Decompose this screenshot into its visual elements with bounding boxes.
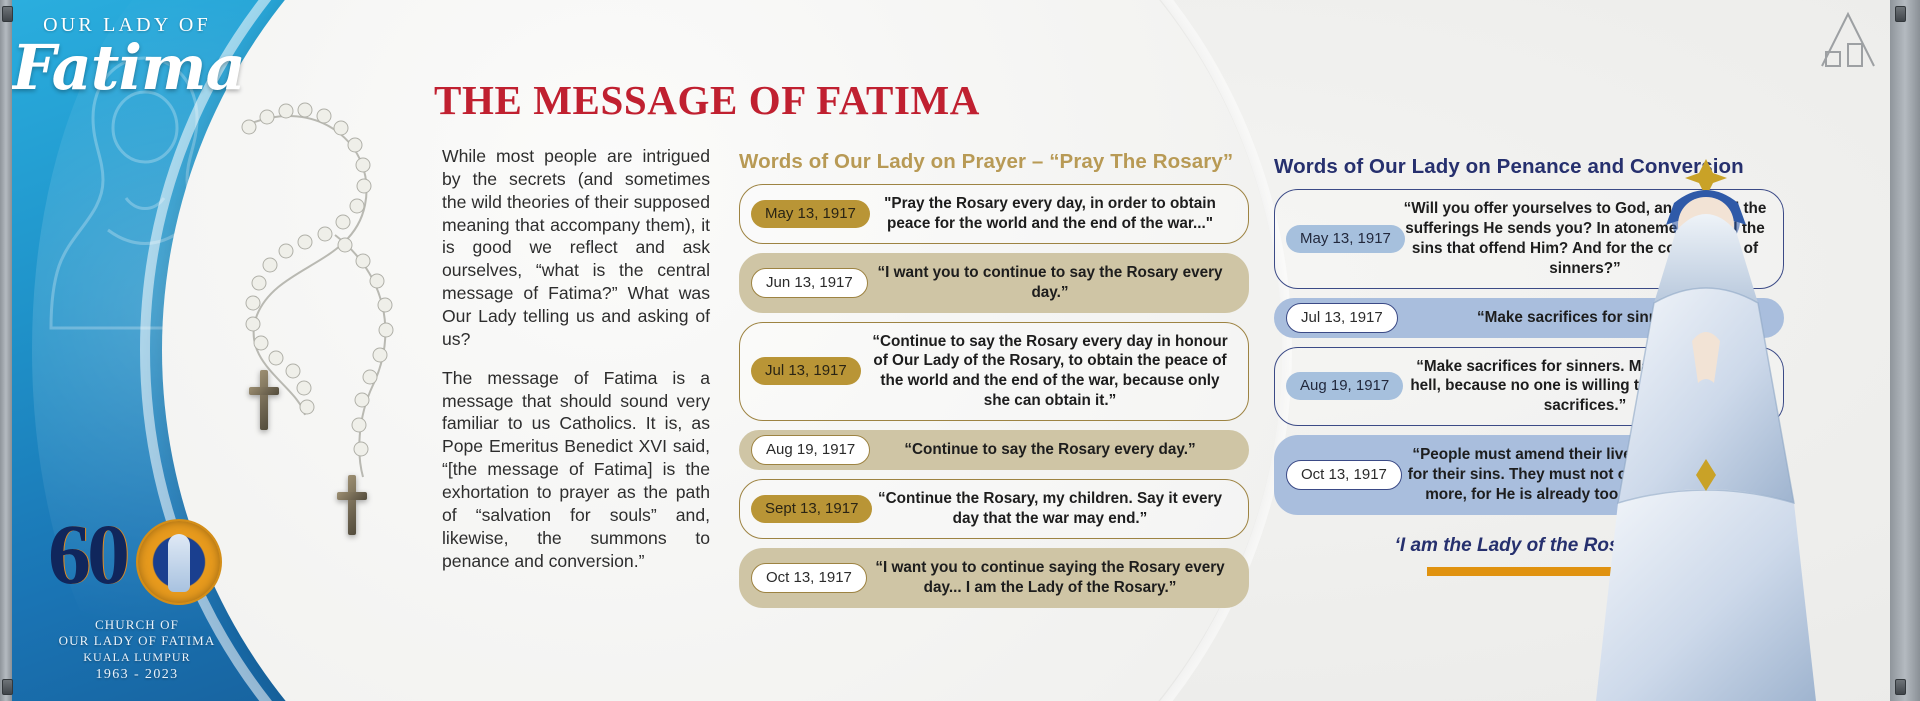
intro-paragraph-2: The message of Fatima is a message that … — [442, 367, 710, 573]
mount-bolt-bottom-left — [2, 679, 13, 695]
message-quote: “Continue to say the Rosary every day.” — [868, 440, 1232, 460]
rosary-crucifix-primary — [247, 370, 281, 430]
message-date-badge: Jun 13, 1917 — [751, 268, 868, 298]
intro-paragraph-1: While most people are intrigued by the s… — [442, 145, 710, 351]
panel-left-edge — [0, 0, 12, 701]
seal-number: 60 — [48, 511, 126, 597]
seal-line-2: OUR LADY OF FATIMA — [42, 633, 232, 649]
message-row: “I want you to continue saying the Rosar… — [739, 548, 1249, 608]
message-row: “I want you to continue to say the Rosar… — [739, 253, 1249, 313]
message-quote: “I want you to continue saying the Rosar… — [868, 558, 1232, 598]
seal-line-3: KUALA LUMPUR — [42, 650, 232, 665]
message-date-badge: Sept 13, 1917 — [751, 495, 872, 523]
message-row: “Continue the Rosary, my children. Say i… — [739, 479, 1249, 539]
page-title: THE MESSAGE OF FATIMA — [434, 76, 980, 124]
brand-script-line: Fatima — [12, 39, 242, 98]
our-lady-of-fatima-statue — [1556, 141, 1856, 701]
message-quote: “Continue to say the Rosary every day in… — [868, 332, 1232, 412]
message-quote: “I want you to continue to say the Rosar… — [868, 263, 1232, 303]
message-quote: “Continue the Rosary, my children. Say i… — [868, 489, 1232, 529]
statue-figure-icon — [1556, 141, 1856, 701]
seal-mark: 60 — [42, 505, 232, 613]
message-row: "Pray the Rosary every day, in order to … — [739, 184, 1249, 244]
mount-bolt-bottom-right — [1895, 679, 1906, 695]
seal-line-4: 1963 - 2023 — [42, 666, 232, 684]
exhibition-panel: OUR LADY OF Fatima 60 CHURCH OF OUR LADY… — [0, 0, 1920, 701]
message-date-badge: May 13, 1917 — [751, 200, 870, 228]
message-date-badge: May 13, 1917 — [1286, 225, 1405, 253]
prayer-column: Words of Our Lady on Prayer – “Pray The … — [739, 150, 1249, 617]
seal-medal-icon — [136, 519, 222, 605]
prayer-row-list: "Pray the Rosary every day, in order to … — [739, 184, 1249, 608]
message-date-badge: Oct 13, 1917 — [751, 563, 867, 593]
anniversary-seal: 60 CHURCH OF OUR LADY OF FATIMA KUALA LU… — [42, 505, 232, 683]
message-date-badge: Aug 19, 1917 — [751, 435, 870, 465]
message-row: “Continue to say the Rosary every day.”A… — [739, 430, 1249, 470]
message-quote: "Pray the Rosary every day, in order to … — [868, 194, 1232, 234]
message-date-badge: Jul 13, 1917 — [751, 357, 861, 385]
brand-lockup: OUR LADY OF Fatima — [12, 14, 242, 98]
seal-caption: CHURCH OF OUR LADY OF FATIMA KUALA LUMPU… — [42, 617, 232, 683]
panel-right-edge — [1890, 0, 1920, 701]
seal-line-1: CHURCH OF — [42, 617, 232, 633]
intro-text-block: While most people are intrigued by the s… — [442, 145, 710, 572]
message-date-badge: Aug 19, 1917 — [1286, 372, 1403, 400]
rosary-crucifix-secondary — [335, 475, 369, 535]
message-row: “Continue to say the Rosary every day in… — [739, 322, 1249, 422]
prayer-column-heading: Words of Our Lady on Prayer – “Pray The … — [739, 150, 1249, 174]
message-date-badge: Oct 13, 1917 — [1286, 460, 1402, 490]
board-face: OUR LADY OF Fatima 60 CHURCH OF OUR LADY… — [12, 0, 1890, 701]
corner-chart-glyph-icon — [1818, 8, 1878, 72]
message-date-badge: Jul 13, 1917 — [1286, 303, 1398, 333]
mount-bolt-top-right — [1895, 6, 1906, 22]
page-title-text: THE MESSAGE OF FATIMA — [434, 77, 980, 123]
